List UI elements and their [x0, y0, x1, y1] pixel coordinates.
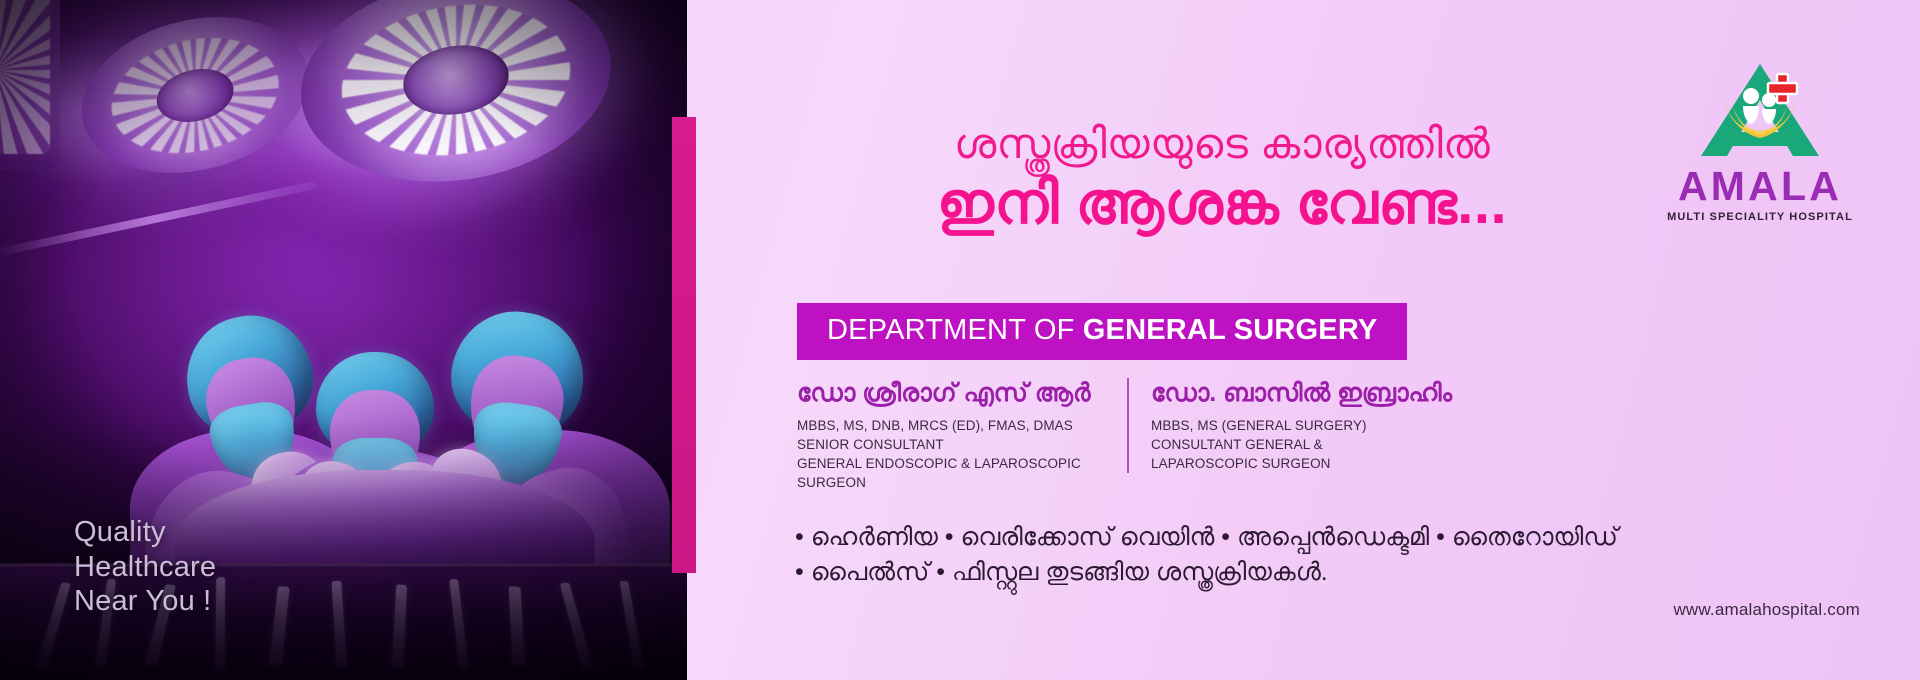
tagline-line-2: Healthcare — [74, 550, 216, 584]
department-name: GENERAL SURGERY — [1083, 314, 1378, 346]
doctor-1-specialty: GENERAL ENDOSCOPIC & LAPAROSCOPIC SURGEO… — [797, 454, 1109, 492]
doctors-list: ഡോ ശ്രീരാഗ് എസ് ആർ MBBS, MS, DNB, MRCS (… — [797, 378, 1457, 492]
logo-svg — [1697, 62, 1823, 158]
services-list: • ഹെർണിയ • വെരിക്കോസ് വെയിൻ • അപ്പെൻഡെക്… — [795, 520, 1695, 590]
headline-line-2: ഇനി ആശങ്ക വേണ്ട... — [787, 171, 1657, 237]
headline-block: ശസ്ത്രക്രിയയുടെ കാര്യത്തിൽ ഇനി ആശങ്ക വേണ… — [787, 120, 1657, 237]
hospital-logo: AMALA MULTI SPECIALITY HOSPITAL — [1660, 62, 1860, 223]
doctor-2-specialty: LAPAROSCOPIC SURGEON — [1151, 454, 1457, 473]
doctor-1-details: MBBS, MS, DNB, MRCS (ED), FMAS, DMAS SEN… — [797, 416, 1109, 493]
department-label: DEPARTMENT OF GENERAL SURGERY — [827, 314, 1377, 346]
doctor-card-2: ഡോ. ബാസിൽ ഇബ്രാഹിം MBBS, MS (GENERAL SUR… — [1127, 378, 1457, 473]
website-url: www.amalahospital.com — [1673, 600, 1860, 620]
tagline-line-3: Near You ! — [74, 584, 216, 618]
content-panel: ശസ്ത്രക്രിയയുടെ കാര്യത്തിൽ ഇനി ആശങ്ക വേണ… — [687, 0, 1920, 680]
doctor-1-credentials: MBBS, MS, DNB, MRCS (ED), FMAS, DMAS — [797, 416, 1109, 435]
doctor-2-details: MBBS, MS (GENERAL SURGERY) CONSULTANT GE… — [1151, 416, 1457, 473]
photo-tagline: Quality Healthcare Near You ! — [74, 515, 216, 618]
doctor-2-name: ഡോ. ബാസിൽ ഇബ്രാഹിം — [1151, 378, 1457, 409]
department-banner: DEPARTMENT OF GENERAL SURGERY — [797, 303, 1407, 360]
amala-a-logo-icon — [1697, 62, 1823, 158]
services-line-2: • പൈൽസ് • ഫിസ്റ്റുല തുടങ്ങിയ ശസ്ത്രക്രിയ… — [795, 555, 1695, 590]
surgery-photo: Quality Healthcare Near You ! — [0, 0, 687, 680]
doctor-2-role: CONSULTANT GENERAL & — [1151, 435, 1457, 454]
hospital-promo-banner: Quality Healthcare Near You ! ശസ്ത്രക്രി… — [0, 0, 1920, 680]
logo-subtitle: MULTI SPECIALITY HOSPITAL — [1660, 212, 1860, 223]
headline-line-1: ശസ്ത്രക്രിയയുടെ കാര്യത്തിൽ — [787, 120, 1657, 167]
tagline-line-1: Quality — [74, 515, 216, 549]
doctor-card-1: ഡോ ശ്രീരാഗ് എസ് ആർ MBBS, MS, DNB, MRCS (… — [797, 378, 1127, 492]
department-prefix: DEPARTMENT OF — [827, 314, 1083, 346]
pink-accent-bar — [672, 117, 696, 573]
doctor-1-name: ഡോ ശ്രീരാഗ് എസ് ആർ — [797, 378, 1109, 409]
doctor-2-credentials: MBBS, MS (GENERAL SURGERY) — [1151, 416, 1457, 435]
doctor-1-role: SENIOR CONSULTANT — [797, 435, 1109, 454]
logo-name: AMALA — [1660, 166, 1860, 207]
services-line-1: • ഹെർണിയ • വെരിക്കോസ് വെയിൻ • അപ്പെൻഡെക്… — [795, 520, 1695, 555]
